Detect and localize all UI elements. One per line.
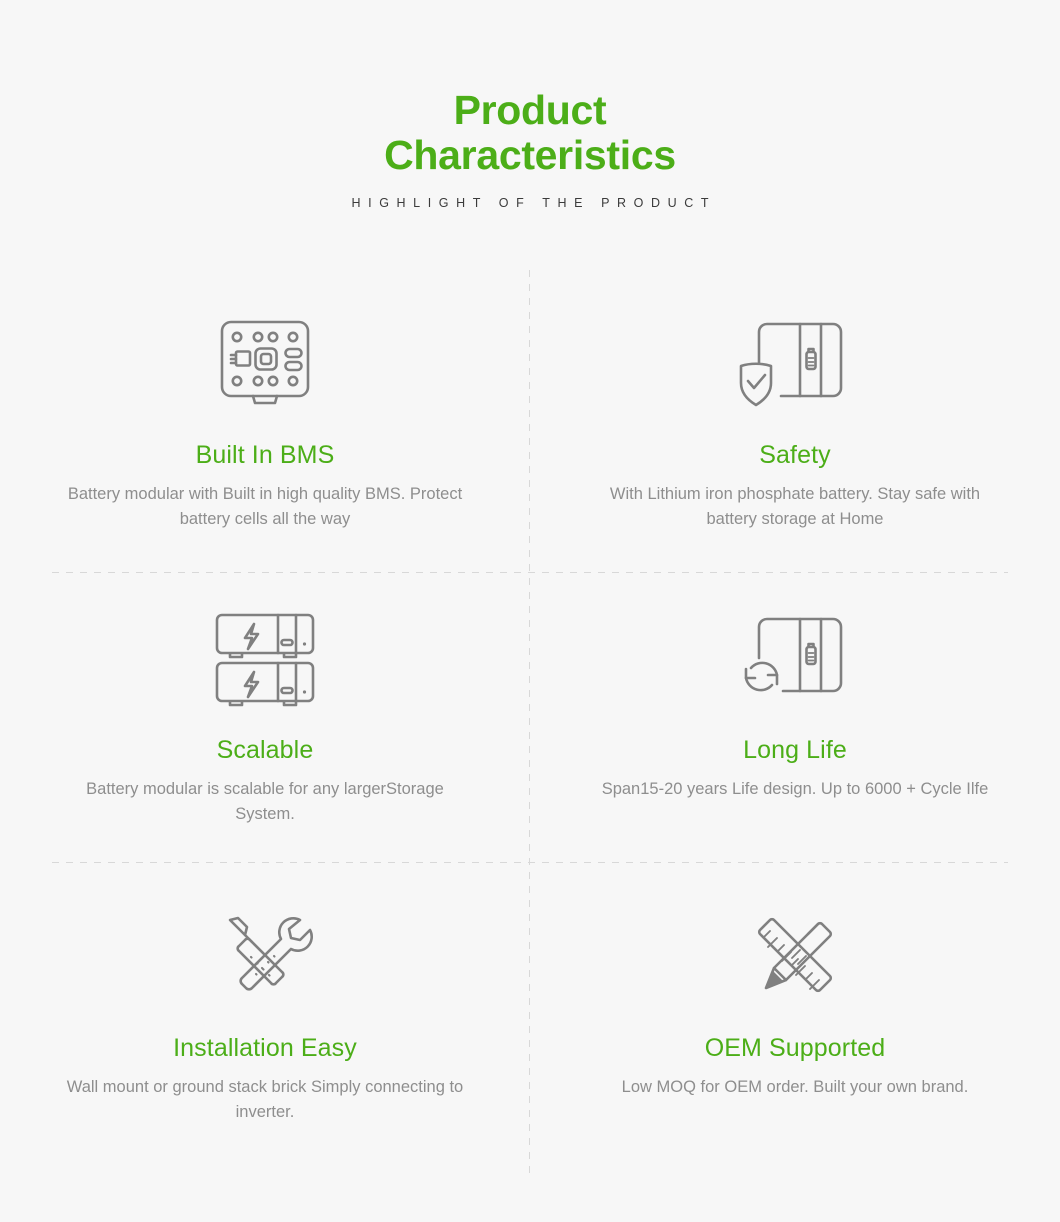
wrench-screwdriver-icon bbox=[216, 906, 314, 1010]
feature-title: Built In BMS bbox=[196, 441, 335, 469]
feature-title: Safety bbox=[759, 441, 830, 469]
feature-description: Battery modular with Built in high quali… bbox=[60, 482, 470, 532]
feature-card-oem-supported: OEM Supported Low MOQ for OEM order. Bui… bbox=[530, 864, 1060, 1162]
feature-title: OEM Supported bbox=[705, 1034, 886, 1062]
pencil-ruler-icon bbox=[746, 906, 844, 1010]
feature-description: Span15-20 years Life design. Up to 6000 … bbox=[590, 777, 1000, 802]
feature-grid: Built In BMS Battery modular with Built … bbox=[0, 268, 1060, 1162]
feature-card-scalable: Scalable Battery modular is scalable for… bbox=[0, 566, 530, 864]
page-header: Product Characteristics HIGHLIGHT OF THE… bbox=[0, 0, 1060, 210]
product-characteristics-page: Product Characteristics HIGHLIGHT OF THE… bbox=[0, 0, 1060, 1222]
feature-description: Battery modular is scalable for any larg… bbox=[60, 777, 470, 827]
feature-description: With Lithium iron phosphate battery. Sta… bbox=[590, 482, 1000, 532]
feature-description: Wall mount or ground stack brick Simply … bbox=[60, 1075, 470, 1125]
page-title-line-1: Product bbox=[454, 87, 607, 133]
page-subtitle: HIGHLIGHT OF THE PRODUCT bbox=[0, 196, 1060, 210]
feature-title: Long Life bbox=[743, 736, 847, 764]
feature-description: Low MOQ for OEM order. Built your own br… bbox=[590, 1075, 1000, 1100]
feature-card-built-in-bms: Built In BMS Battery modular with Built … bbox=[0, 268, 530, 566]
feature-title: Installation Easy bbox=[173, 1034, 357, 1062]
circuit-board-icon bbox=[213, 313, 317, 417]
page-title-line-2: Characteristics bbox=[384, 132, 676, 178]
page-title: Product Characteristics bbox=[380, 88, 680, 178]
feature-card-installation-easy: Installation Easy Wall mount or ground s… bbox=[0, 864, 530, 1162]
shield-battery-cabinet-icon bbox=[737, 313, 853, 417]
feature-card-safety: Safety With Lithium iron phosphate batte… bbox=[530, 268, 1060, 566]
feature-title: Scalable bbox=[217, 736, 314, 764]
feature-card-long-life: Long Life Span15-20 years Life design. U… bbox=[530, 566, 1060, 864]
stacked-battery-modules-icon bbox=[212, 608, 318, 712]
refresh-battery-cabinet-icon bbox=[737, 608, 853, 712]
